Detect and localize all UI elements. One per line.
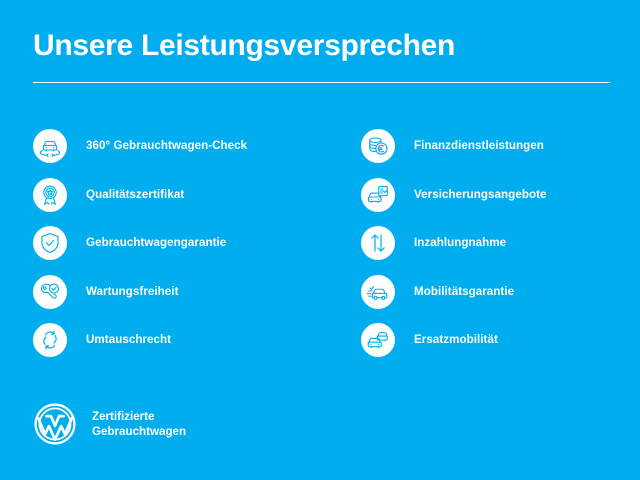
- coins-euro-icon: [361, 129, 395, 163]
- promise-item-maintenance-free[interactable]: Wartungsfreiheit: [30, 270, 330, 314]
- exchange-arrows-icon: [33, 323, 67, 357]
- promise-label: Mobilitätsgarantie: [414, 285, 514, 299]
- volkswagen-logo: [33, 402, 77, 446]
- brand-text: Zertifizierte Gebrauchtwagen: [92, 409, 186, 440]
- promise-item-360-check[interactable]: 360° Gebrauchtwagen-Check: [30, 124, 330, 168]
- promise-item-quality-certificate[interactable]: Qualitätszertifikat: [30, 173, 330, 217]
- promise-item-insurance-offers[interactable]: Versicherungsangebote: [358, 173, 633, 217]
- promise-label: Versicherungsangebote: [414, 188, 547, 202]
- brand-text-line1: Zertifizierte: [92, 409, 186, 425]
- page-title: Unsere Leistungsversprechen: [33, 28, 610, 64]
- promise-label: Ersatzmobilität: [414, 333, 498, 347]
- promise-label: Umtauschrecht: [86, 333, 171, 347]
- car-360-check-icon: [33, 129, 67, 163]
- up-down-arrows-icon: [361, 226, 395, 260]
- car-document-icon: [361, 178, 395, 212]
- brand-text-line2: Gebrauchtwagen: [92, 424, 186, 440]
- promise-item-exchange-right[interactable]: Umtauschrecht: [30, 318, 330, 362]
- shield-check-icon: [33, 226, 67, 260]
- promise-label: Gebrauchtwagengarantie: [86, 236, 226, 250]
- two-cars-icon: [361, 323, 395, 357]
- promise-label: 360° Gebrauchtwagen-Check: [86, 139, 247, 153]
- promise-label: Inzahlungnahme: [414, 236, 506, 250]
- wrench-check-icon: [33, 275, 67, 309]
- brand-footer: Zertifizierte Gebrauchtwagen: [33, 402, 186, 446]
- promises-column-left: 360° Gebrauchtwagen-Check Qualitätszerti…: [30, 124, 330, 367]
- promises-column-right: Finanzdienstleistungen Versicherungsange…: [358, 124, 633, 367]
- promise-item-replacement-mobility[interactable]: Ersatzmobilität: [358, 318, 633, 362]
- promise-item-mobility-guarantee[interactable]: Mobilitätsgarantie: [358, 270, 633, 314]
- title-divider: [33, 82, 610, 83]
- header: Unsere Leistungsversprechen: [33, 28, 610, 64]
- award-rosette-icon: [33, 178, 67, 212]
- promise-item-financial-services[interactable]: Finanzdienstleistungen: [358, 124, 633, 168]
- promise-item-warranty[interactable]: Gebrauchtwagengarantie: [30, 221, 330, 265]
- promises-banner: Unsere Leistungsversprechen 360° Gebrauc…: [0, 0, 640, 480]
- promise-label: Finanzdienstleistungen: [414, 139, 544, 153]
- moving-car-check-icon: [361, 275, 395, 309]
- promise-label: Qualitätszertifikat: [86, 188, 184, 202]
- promise-item-trade-in[interactable]: Inzahlungnahme: [358, 221, 633, 265]
- promise-label: Wartungsfreiheit: [86, 285, 178, 299]
